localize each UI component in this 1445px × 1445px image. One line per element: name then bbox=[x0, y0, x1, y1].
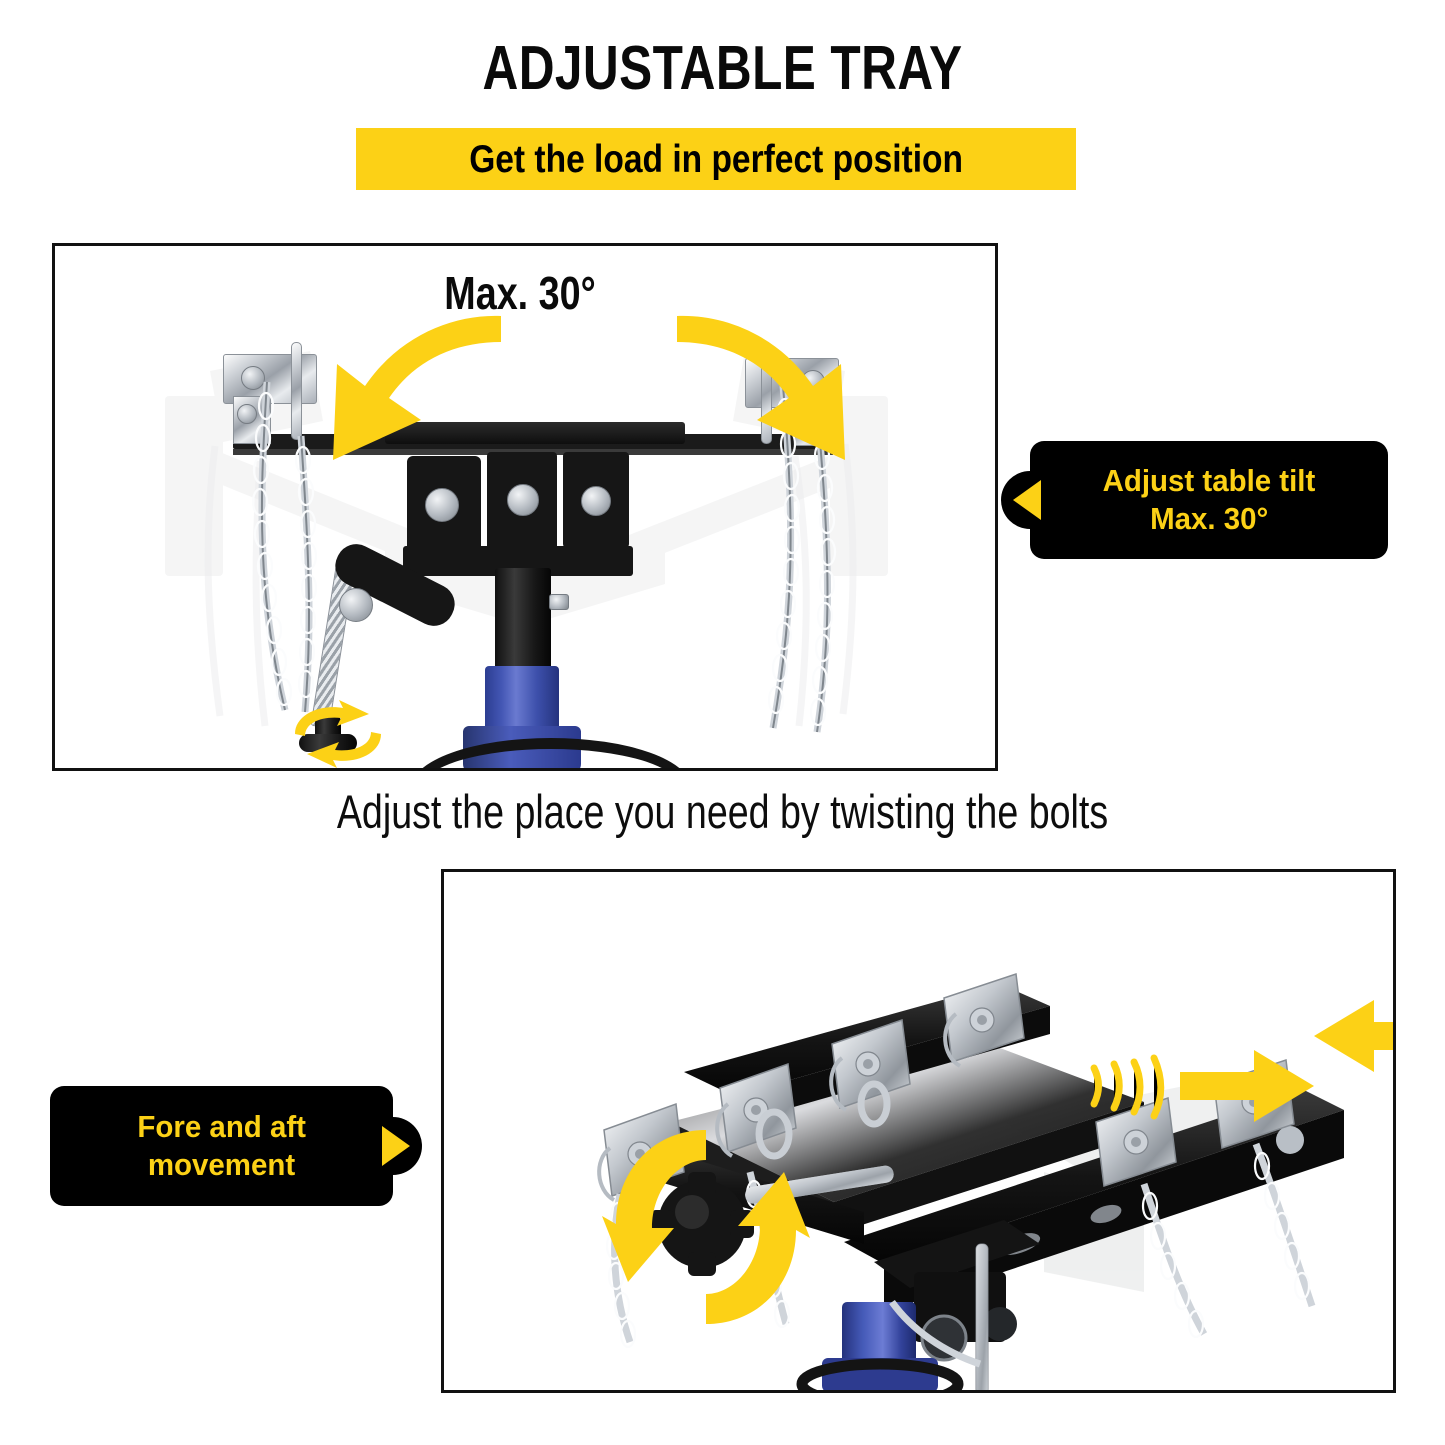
callout-fore-and-aft-movement[interactable]: Fore and aft movement bbox=[50, 1086, 393, 1206]
tilt-arm-pivot-bolt bbox=[339, 588, 373, 622]
hub-bolt-right bbox=[581, 486, 611, 516]
callout-pointer-right bbox=[364, 1117, 422, 1175]
curved-arrow-down-right-icon bbox=[615, 298, 875, 518]
column-lock-screw bbox=[549, 594, 569, 610]
infographic-root: ADJUSTABLE TRAY Get the load in perfect … bbox=[0, 0, 1445, 1445]
callout-adjust-table-tilt[interactable]: Adjust table tilt Max. 30° bbox=[1030, 441, 1388, 559]
callout-fore-line-1: Fore and aft bbox=[137, 1108, 306, 1146]
page-title: ADJUSTABLE TRAY bbox=[145, 38, 1301, 100]
mid-caption: Adjust the place you need by twisting th… bbox=[145, 786, 1301, 838]
subtitle-banner: Get the load in perfect position bbox=[356, 128, 1076, 190]
photo-panel-fore-aft bbox=[441, 869, 1396, 1393]
callout-tilt-line-2: Max. 30° bbox=[1150, 500, 1268, 538]
curved-arrow-down-left-icon bbox=[303, 298, 563, 518]
triangle-left-icon bbox=[1013, 480, 1041, 520]
subtitle-text: Get the load in perfect position bbox=[469, 140, 963, 179]
callout-pointer-left bbox=[1001, 471, 1059, 529]
photo-panel-tilt: Max. 30° bbox=[52, 243, 998, 771]
product-photo-tilt: Max. 30° bbox=[55, 246, 995, 768]
callout-fore-line-2: movement bbox=[148, 1146, 295, 1184]
callout-tilt-line-1: Adjust table tilt bbox=[1103, 462, 1316, 500]
arrow-left-motion-icon bbox=[1234, 972, 1396, 1102]
rotation-arrow-knob-icon bbox=[602, 1112, 812, 1342]
column-collar bbox=[495, 568, 551, 672]
triangle-right-icon bbox=[382, 1126, 410, 1166]
product-photo-fore-aft bbox=[444, 872, 1393, 1390]
rotation-arrow-bolt-icon bbox=[273, 698, 403, 768]
